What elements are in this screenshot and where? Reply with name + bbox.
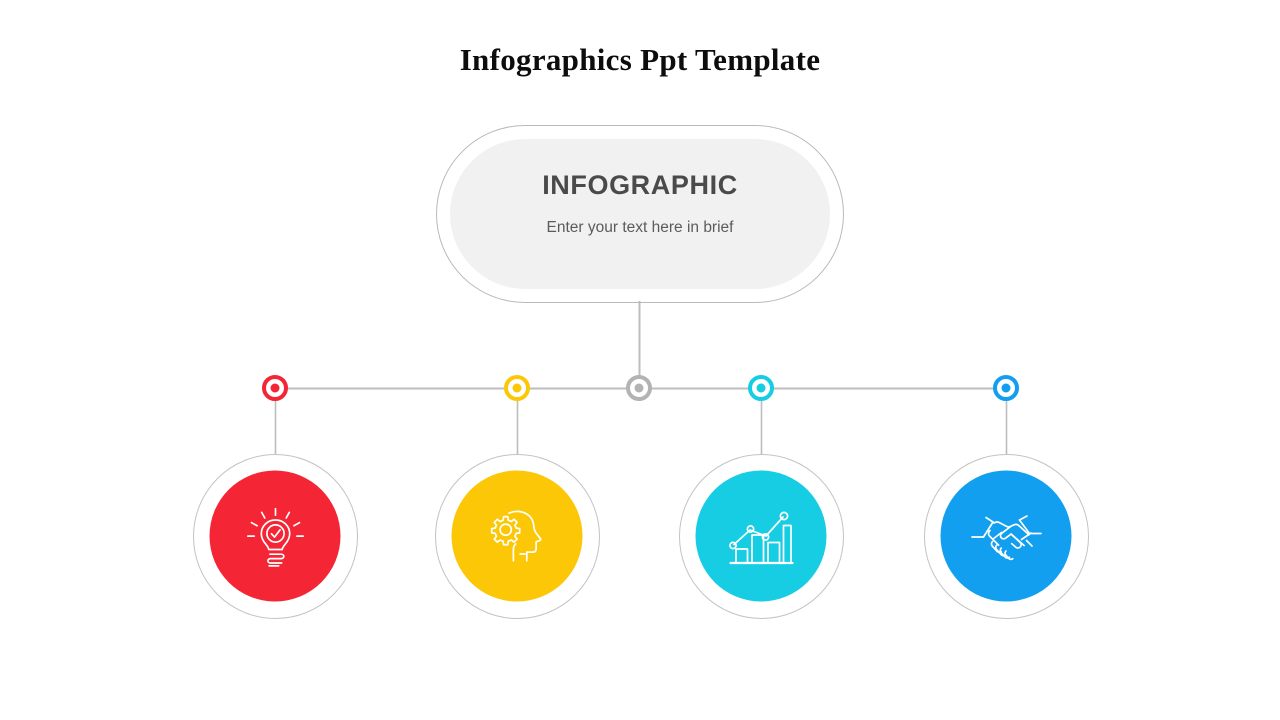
lightbulb-check-icon [236,497,314,575]
marker-4[interactable] [993,375,1019,401]
marker-4-core [1002,384,1011,393]
marker-3-core [757,384,766,393]
node-1[interactable] [193,454,358,619]
header-card[interactable] [450,139,830,289]
center-dot-core [635,384,644,393]
node-3-fill [696,471,827,602]
node-1-fill [210,471,341,602]
node-4-fill [941,471,1072,602]
slide-canvas: Infographics Ppt Template INFOGRAPHIC En… [0,0,1280,720]
node-2-fill [452,471,583,602]
marker-3[interactable] [748,375,774,401]
page-title: Infographics Ppt Template [0,42,1280,78]
node-3[interactable] [679,454,844,619]
center-dot[interactable] [626,375,652,401]
marker-2-core [513,384,522,393]
handshake-icon [963,493,1049,579]
bar-chart-growth-icon [721,496,801,576]
node-2[interactable] [435,454,600,619]
connector-lines [0,0,1280,720]
marker-1-core [271,384,280,393]
node-4[interactable] [924,454,1089,619]
marker-1[interactable] [262,375,288,401]
marker-2[interactable] [504,375,530,401]
header-heading: INFOGRAPHIC [450,170,830,201]
head-gear-icon [477,496,557,576]
header-subtext: Enter your text here in brief [450,219,830,237]
